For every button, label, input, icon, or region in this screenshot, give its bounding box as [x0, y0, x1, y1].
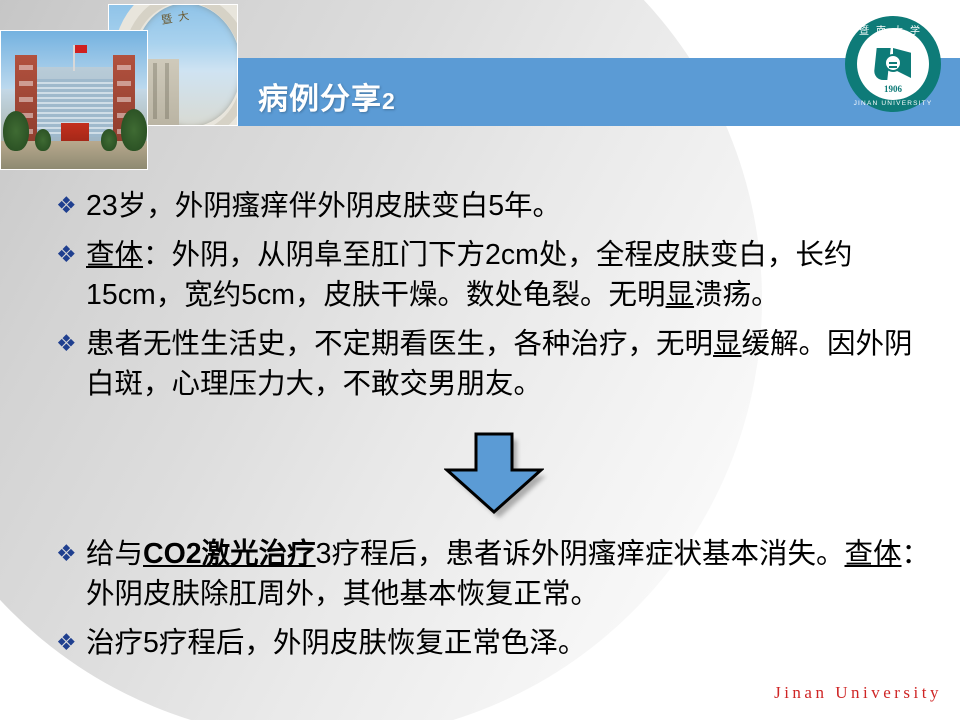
bullet-item: ❖给与CO2激光治疗3疗程后，患者诉外阴瘙痒症状基本消失。查体：外阴皮肤除肛周外…	[56, 534, 936, 614]
tree	[101, 129, 117, 151]
bullet-text-segment: CO2激光治疗	[143, 538, 316, 570]
bullet-text-segment: 查体	[844, 538, 901, 570]
bullet-item: ❖患者无性生活史，不定期看医生，各种治疗，无明显缓解。因外阴白斑，心理压力大，不…	[56, 324, 936, 404]
bullet-diamond-icon: ❖	[56, 235, 86, 275]
bullet-text: 治疗5疗程后，外阴皮肤恢复正常色泽。	[86, 623, 936, 663]
jinan-university-logo: 暨南大学 JINAN UNIVERSITY 1906	[845, 16, 941, 112]
bullet-item: ❖查体：外阴，从阴阜至肛门下方2cm处，全程皮肤变白，长约15cm，宽约5cm，…	[56, 235, 936, 315]
bullet-diamond-icon: ❖	[56, 186, 86, 226]
bullet-text: 患者无性生活史，不定期看医生，各种治疗，无明显缓解。因外阴白斑，心理压力大，不敢…	[86, 324, 936, 404]
seal-emblem-icon	[875, 48, 911, 82]
bullet-item: ❖治疗5疗程后，外阴皮肤恢复正常色泽。	[56, 623, 936, 663]
bullet-text-segment: 显	[666, 279, 695, 311]
seal-english-name: JINAN UNIVERSITY	[845, 100, 941, 107]
bullet-text-segment: 3疗程后，患者诉外阴瘙痒症状基本消失。	[316, 538, 845, 570]
seal-inner-disc: 1906	[857, 28, 929, 100]
slide-title: 病例分享2	[258, 74, 396, 118]
slide-title-number: 2	[382, 88, 396, 114]
bullet-diamond-icon: ❖	[56, 534, 86, 574]
down-arrow-shape	[444, 432, 544, 514]
slide-title-main: 病例分享	[258, 83, 382, 116]
flagpole	[73, 45, 75, 71]
bullet-text-segment: 查体	[86, 239, 143, 271]
bullet-text: 给与CO2激光治疗3疗程后，患者诉外阴瘙痒症状基本消失。查体：外阴皮肤除肛周外，…	[86, 534, 936, 614]
bullet-list-top: ❖23岁，外阴瘙痒伴外阴皮肤变白5年。❖查体：外阴，从阴阜至肛门下方2cm处，全…	[56, 186, 936, 413]
bullet-text-segment: 患者无性生活史，不定期看医生，各种治疗，无明	[86, 328, 713, 360]
bullet-diamond-icon: ❖	[56, 623, 86, 663]
tree	[121, 109, 147, 151]
bullet-text-segment: 溃疡。	[694, 279, 780, 311]
bullet-text-segment: 显	[713, 328, 742, 360]
bullet-list-bottom: ❖给与CO2激光治疗3疗程后，患者诉外阴瘙痒症状基本消失。查体：外阴皮肤除肛周外…	[56, 534, 936, 672]
tree	[35, 129, 51, 151]
tree	[3, 111, 29, 151]
bullet-text-segment: 治疗5疗程后，外阴皮肤恢复正常色泽。	[86, 627, 586, 659]
bullet-diamond-icon: ❖	[56, 324, 86, 364]
presentation-slide: 暨大 病例分享2 暨南大学 JINAN UNIVERSITY	[0, 0, 960, 720]
campus-building-photo	[0, 30, 148, 170]
bullet-text: 23岁，外阴瘙痒伴外阴皮肤变白5年。	[86, 186, 936, 226]
bullet-item: ❖23岁，外阴瘙痒伴外阴皮肤变白5年。	[56, 186, 936, 226]
bullet-text-segment: 给与	[86, 538, 143, 570]
down-arrow	[444, 432, 544, 514]
seal-founding-year: 1906	[857, 84, 929, 94]
footer-brand: Jinan University	[774, 683, 942, 703]
bullet-text-segment: 23岁，外阴瘙痒伴外阴皮肤变白5年。	[86, 190, 561, 222]
bullet-text: 查体：外阴，从阴阜至肛门下方2cm处，全程皮肤变白，长约15cm，宽约5cm，皮…	[86, 235, 936, 315]
